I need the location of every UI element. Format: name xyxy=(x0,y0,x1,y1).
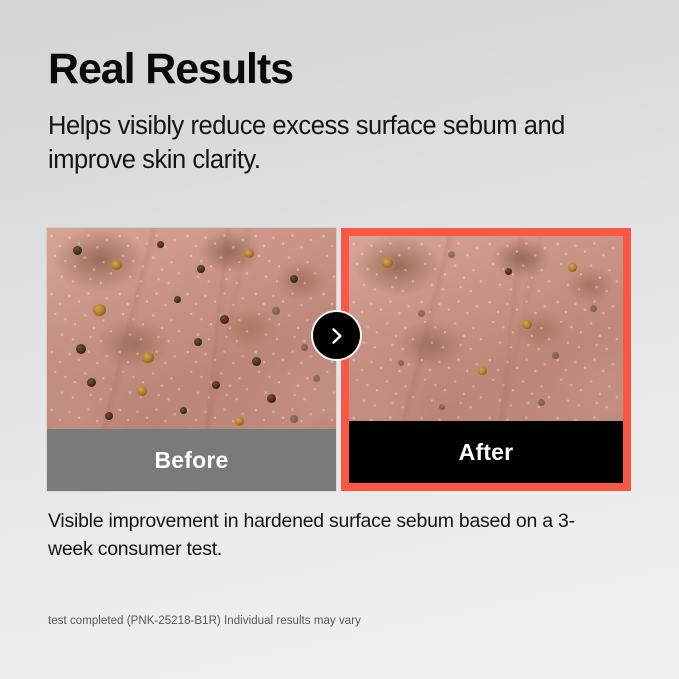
results-caption: Visible improvement in hardened surface … xyxy=(48,508,608,563)
chevron-right-icon xyxy=(313,312,360,359)
subheading: Helps visibly reduce excess surface sebu… xyxy=(48,110,588,177)
before-label: Before xyxy=(47,429,336,491)
before-after-comparison: Before After xyxy=(47,228,631,491)
legal-footnote: test completed (PNK-25218-B1R) Individua… xyxy=(48,615,361,627)
after-panel: After xyxy=(341,228,631,491)
after-label: After xyxy=(349,421,623,483)
page-title: Real Results xyxy=(48,46,631,92)
before-panel: Before xyxy=(47,228,336,491)
